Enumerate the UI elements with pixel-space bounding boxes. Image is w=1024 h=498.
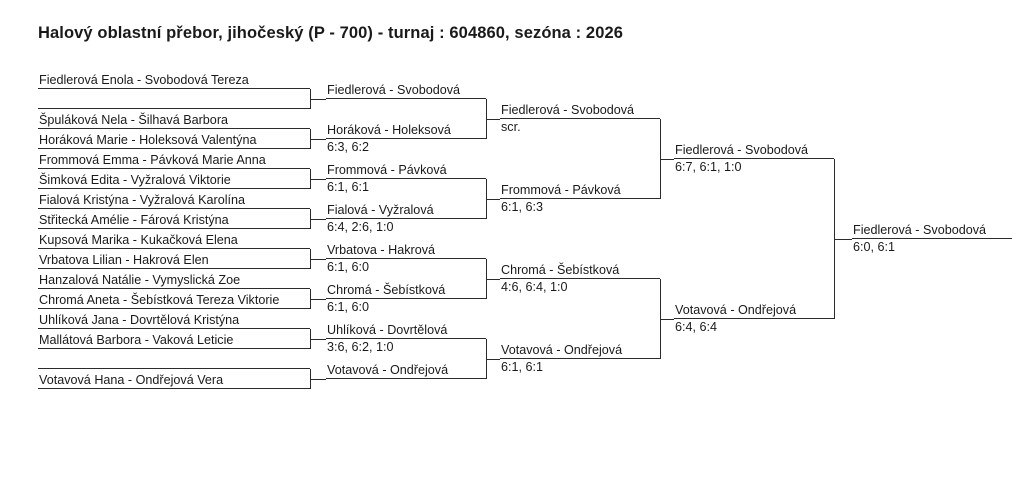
bracket-connector-horizontal (310, 179, 326, 180)
bracket-connector-horizontal (310, 339, 326, 340)
round-2-score-5: 6:1, 6:0 (327, 301, 369, 314)
final-score-0: 6:0, 6:1 (853, 241, 895, 254)
semifinals-winner-0: Fiedlerová - Svobodová (674, 140, 834, 159)
slot-label: Špuláková Nela - Šilhavá Barbora (39, 114, 228, 127)
bracket-connector-horizontal (310, 139, 326, 140)
semifinals-score-0: 6:7, 6:1, 1:0 (675, 161, 742, 174)
round-2-winner-1: Horáková - Holeksová (326, 120, 486, 139)
tournament-bracket: Fiedlerová Enola - Svobodová TerezaŠpulá… (0, 0, 1024, 498)
quarterfinals-winner-1: Frommová - Pávková (500, 180, 660, 199)
round-1-slot-8: Kupsová Marika - Kukačková Elena (38, 230, 310, 249)
slot-label: Chromá - Šebístková (327, 284, 445, 297)
slot-label: Vrbatova Lilian - Hakrová Elen (39, 254, 209, 267)
round-2-winner-5: Chromá - Šebístková (326, 280, 486, 299)
slot-label: Uhlíková - Dovrtělová (327, 324, 447, 337)
bracket-connector-horizontal (486, 359, 500, 360)
quarterfinals-winner-3: Votavová - Ondřejová (500, 340, 660, 359)
quarterfinals-score-1: 6:1, 6:3 (501, 201, 543, 214)
round-2-score-1: 6:3, 6:2 (327, 141, 369, 154)
semifinals-winner-1: Votavová - Ondřejová (674, 300, 834, 319)
round-2-score-2: 6:1, 6:1 (327, 181, 369, 194)
round-1-slot-7: Střitecká Amélie - Fárová Kristýna (38, 210, 310, 229)
bracket-connector-horizontal (660, 319, 674, 320)
quarterfinals-score-2: 4:6, 6:4, 1:0 (501, 281, 568, 294)
semifinals-score-1: 6:4, 6:4 (675, 321, 717, 334)
bracket-connector-horizontal (486, 279, 500, 280)
slot-label: Fiedlerová - Svobodová (853, 224, 986, 237)
round-1-slot-1 (38, 90, 310, 109)
bracket-connector-horizontal (310, 379, 326, 380)
slot-label: Fialová Kristýna - Vyžralová Karolína (39, 194, 245, 207)
round-2-score-3: 6:4, 2:6, 1:0 (327, 221, 394, 234)
slot-label: Hanzalová Natálie - Vymyslická Zoe (39, 274, 240, 287)
slot-label: Horáková - Holeksová (327, 124, 451, 137)
slot-label: Kupsová Marika - Kukačková Elena (39, 234, 238, 247)
slot-label: Frommová - Pávková (327, 164, 447, 177)
round-2-winner-6: Uhlíková - Dovrtělová (326, 320, 486, 339)
quarterfinals-winner-2: Chromá - Šebístková (500, 260, 660, 279)
quarterfinals-score-0: scr. (501, 121, 521, 134)
bracket-connector-horizontal (310, 99, 326, 100)
bracket-connector-horizontal (660, 159, 674, 160)
bracket-connector-horizontal (486, 119, 500, 120)
slot-label: Votavová - Ondřejová (675, 304, 796, 317)
bracket-connector-horizontal (486, 199, 500, 200)
round-1-slot-6: Fialová Kristýna - Vyžralová Karolína (38, 190, 310, 209)
slot-label: Šimková Edita - Vyžralová Viktorie (39, 174, 231, 187)
slot-label: Frommová - Pávková (501, 184, 621, 197)
round-1-slot-2: Špuláková Nela - Šilhavá Barbora (38, 110, 310, 129)
round-1-slot-13: Mallátová Barbora - Vaková Leticie (38, 330, 310, 349)
slot-label: Fialová - Vyžralová (327, 204, 434, 217)
slot-label: Střitecká Amélie - Fárová Kristýna (39, 214, 229, 227)
round-1-slot-5: Šimková Edita - Vyžralová Viktorie (38, 170, 310, 189)
round-1-slot-4: Frommová Emma - Pávková Marie Anna (38, 150, 310, 169)
quarterfinals-winner-0: Fiedlerová - Svobodová (500, 100, 660, 119)
round-2-score-4: 6:1, 6:0 (327, 261, 369, 274)
slot-label: Fiedlerová - Svobodová (501, 104, 634, 117)
slot-label: Votavová - Ondřejová (501, 344, 622, 357)
slot-label: Frommová Emma - Pávková Marie Anna (39, 154, 266, 167)
round-1-slot-10: Hanzalová Natálie - Vymyslická Zoe (38, 270, 310, 289)
slot-label: Horáková Marie - Holeksová Valentýna (39, 134, 256, 147)
slot-label: Votavová Hana - Ondřejová Vera (39, 374, 223, 387)
slot-label: Fiedlerová - Svobodová (675, 144, 808, 157)
round-2-winner-4: Vrbatova - Hakrová (326, 240, 486, 259)
slot-label: Chromá - Šebístková (501, 264, 619, 277)
bracket-connector-horizontal (834, 239, 852, 240)
slot-label: Fiedlerová - Svobodová (327, 84, 460, 97)
slot-label: Vrbatova - Hakrová (327, 244, 435, 257)
slot-label: Fiedlerová Enola - Svobodová Tereza (39, 74, 249, 87)
bracket-connector-horizontal (310, 259, 326, 260)
round-1-slot-3: Horáková Marie - Holeksová Valentýna (38, 130, 310, 149)
round-1-slot-12: Uhlíková Jana - Dovrtělová Kristýna (38, 310, 310, 329)
round-1-slot-15: Votavová Hana - Ondřejová Vera (38, 370, 310, 389)
slot-label: Mallátová Barbora - Vaková Leticie (39, 334, 233, 347)
round-2-winner-0: Fiedlerová - Svobodová (326, 80, 486, 99)
round-2-winner-3: Fialová - Vyžralová (326, 200, 486, 219)
slot-label: Chromá Aneta - Šebístková Tereza Viktori… (39, 294, 279, 307)
round-1-slot-0: Fiedlerová Enola - Svobodová Tereza (38, 70, 310, 89)
bracket-connector-horizontal (310, 299, 326, 300)
quarterfinals-score-3: 6:1, 6:1 (501, 361, 543, 374)
round-2-winner-2: Frommová - Pávková (326, 160, 486, 179)
slot-label: Uhlíková Jana - Dovrtělová Kristýna (39, 314, 239, 327)
round-2-score-6: 3:6, 6:2, 1:0 (327, 341, 394, 354)
slot-label: Votavová - Ondřejová (327, 364, 448, 377)
round-1-slot-14 (38, 350, 310, 369)
round-2-winner-7: Votavová - Ondřejová (326, 360, 486, 379)
round-1-slot-11: Chromá Aneta - Šebístková Tereza Viktori… (38, 290, 310, 309)
round-1-slot-9: Vrbatova Lilian - Hakrová Elen (38, 250, 310, 269)
final-winner-0: Fiedlerová - Svobodová (852, 220, 1012, 239)
bracket-connector-horizontal (310, 219, 326, 220)
